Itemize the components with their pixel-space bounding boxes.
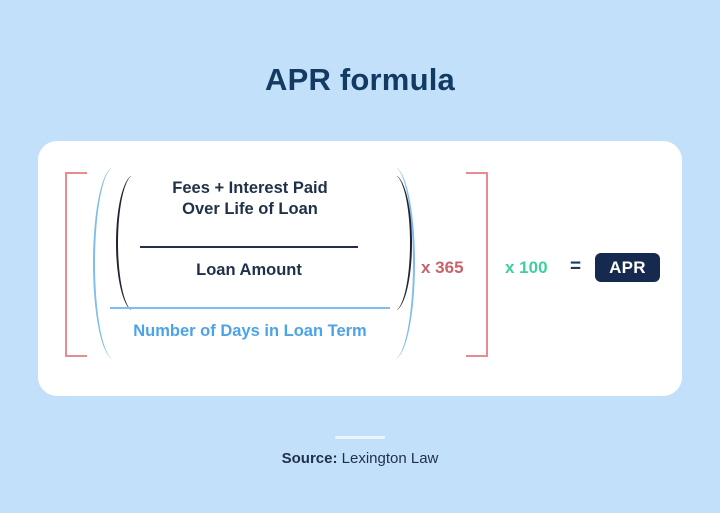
inner-right-paren-icon [376, 175, 412, 311]
source-attribution: Source: Lexington Law [0, 450, 720, 467]
formula-card: Fees + Interest Paid Over Life of Loan L… [38, 141, 682, 396]
infographic-canvas: APR formula Fees + Interest Paid Over Li… [0, 0, 720, 513]
inner-numerator-line-2: Over Life of Loan [140, 199, 360, 220]
multiplier-100: x 100 [505, 258, 548, 278]
left-bracket-icon [65, 172, 87, 357]
source-label: Source: [282, 450, 338, 467]
source-value: Lexington Law [342, 450, 439, 467]
inner-fraction-denominator: Loan Amount [140, 261, 358, 280]
right-bracket-icon [466, 172, 488, 357]
inner-numerator-line-1: Fees + Interest Paid [140, 178, 360, 199]
inner-fraction-bar [140, 246, 358, 248]
outer-fraction-bar [110, 307, 390, 309]
outer-fraction-denominator: Number of Days in Loan Term [100, 322, 400, 341]
page-title: APR formula [0, 62, 720, 98]
equals-sign: = [570, 256, 581, 278]
inner-fraction-numerator: Fees + Interest Paid Over Life of Loan [140, 178, 360, 220]
footer-divider [335, 436, 385, 439]
multiplier-365: x 365 [421, 258, 464, 278]
apr-result-badge: APR [595, 253, 660, 282]
